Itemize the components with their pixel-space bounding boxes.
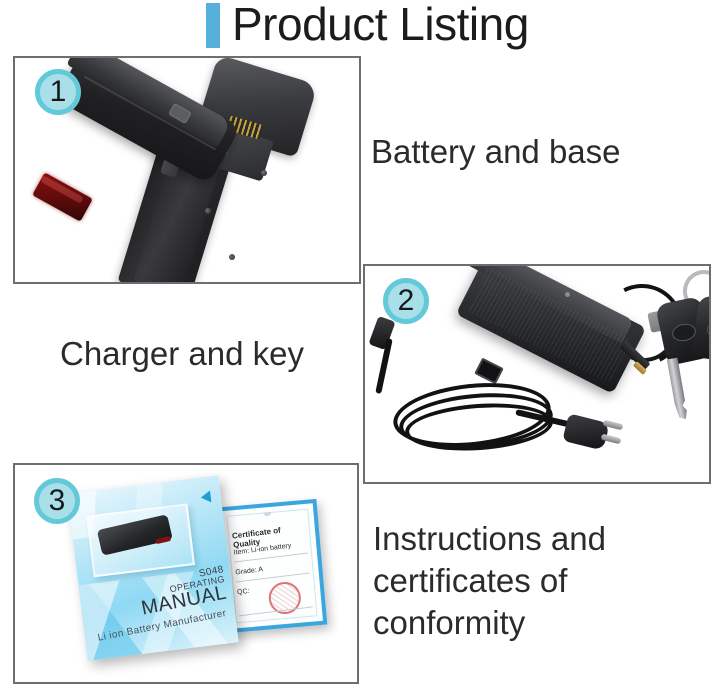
page-title: Product Listing <box>232 0 529 52</box>
product-panel-charger[interactable]: 2 <box>363 264 711 484</box>
page-header: Product Listing <box>0 0 722 52</box>
operating-manual-booklet: S048 OPERATING MANUAL Li ion Battery Man… <box>67 475 238 660</box>
step-badge-1: 1 <box>35 69 81 115</box>
product-panel-documents[interactable]: Certificate of Quality Item: Li-ion batt… <box>13 463 359 684</box>
title-accent-bar <box>206 3 220 48</box>
power-cord-eu-plug <box>562 413 610 450</box>
charger-inlet-socket <box>474 358 504 385</box>
key-blade <box>667 358 689 421</box>
step-badge-3: 3 <box>34 478 80 524</box>
caption-battery-and-base: Battery and base <box>371 131 621 173</box>
screw-icon <box>229 254 235 260</box>
screw-icon <box>261 170 267 176</box>
product-listing-page: Product Listing 1 Battery and base <box>0 0 722 692</box>
product-panel-battery[interactable]: 1 <box>13 56 361 284</box>
play-arrow-icon <box>200 490 211 503</box>
step-badge-2: 2 <box>383 278 429 324</box>
caption-instructions-and-certificates: Instructions and certificates of conform… <box>373 518 606 644</box>
caption-charger-and-key: Charger and key <box>60 333 304 375</box>
screw-icon <box>205 208 211 214</box>
